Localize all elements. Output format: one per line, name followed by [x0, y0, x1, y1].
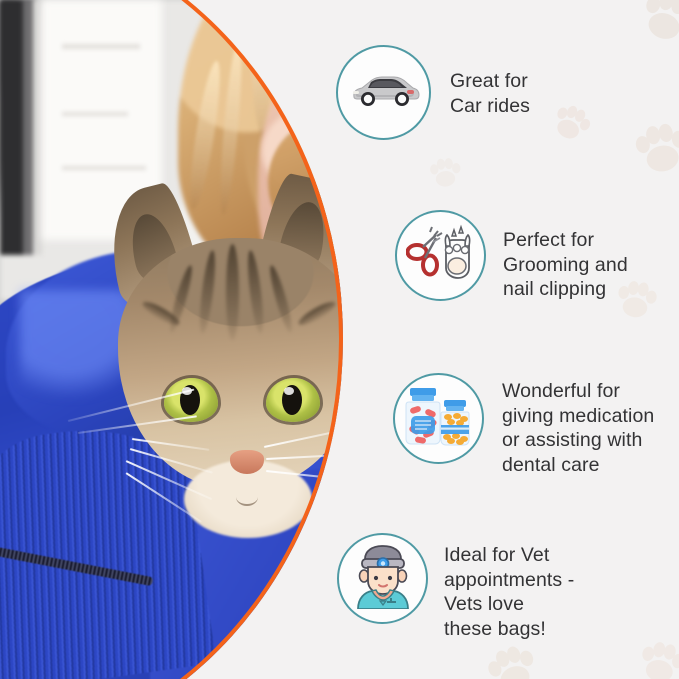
product-feature-infographic: Great for Car rides [0, 0, 679, 679]
feature-label-vet-appointments: Ideal for Vet appointments - Vets love t… [444, 543, 574, 641]
pill-bottles-icon [403, 383, 475, 454]
feature-icon-car-rides [336, 45, 431, 140]
paw-print-watermark [425, 153, 466, 194]
veterinarian-icon [349, 543, 417, 614]
feature-label-grooming: Perfect for Grooming and nail clipping [503, 228, 628, 302]
paw-print-watermark [625, 113, 679, 185]
feature-label-medication: Wonderful for giving medication or assis… [502, 379, 654, 477]
nail-clippers-paw-icon [406, 222, 476, 289]
car-icon [348, 70, 420, 115]
feature-icon-vet-appointments [337, 533, 428, 624]
feature-icon-grooming [395, 210, 486, 301]
feature-icon-medication [393, 373, 484, 464]
feature-label-car-rides: Great for Car rides [450, 69, 530, 118]
